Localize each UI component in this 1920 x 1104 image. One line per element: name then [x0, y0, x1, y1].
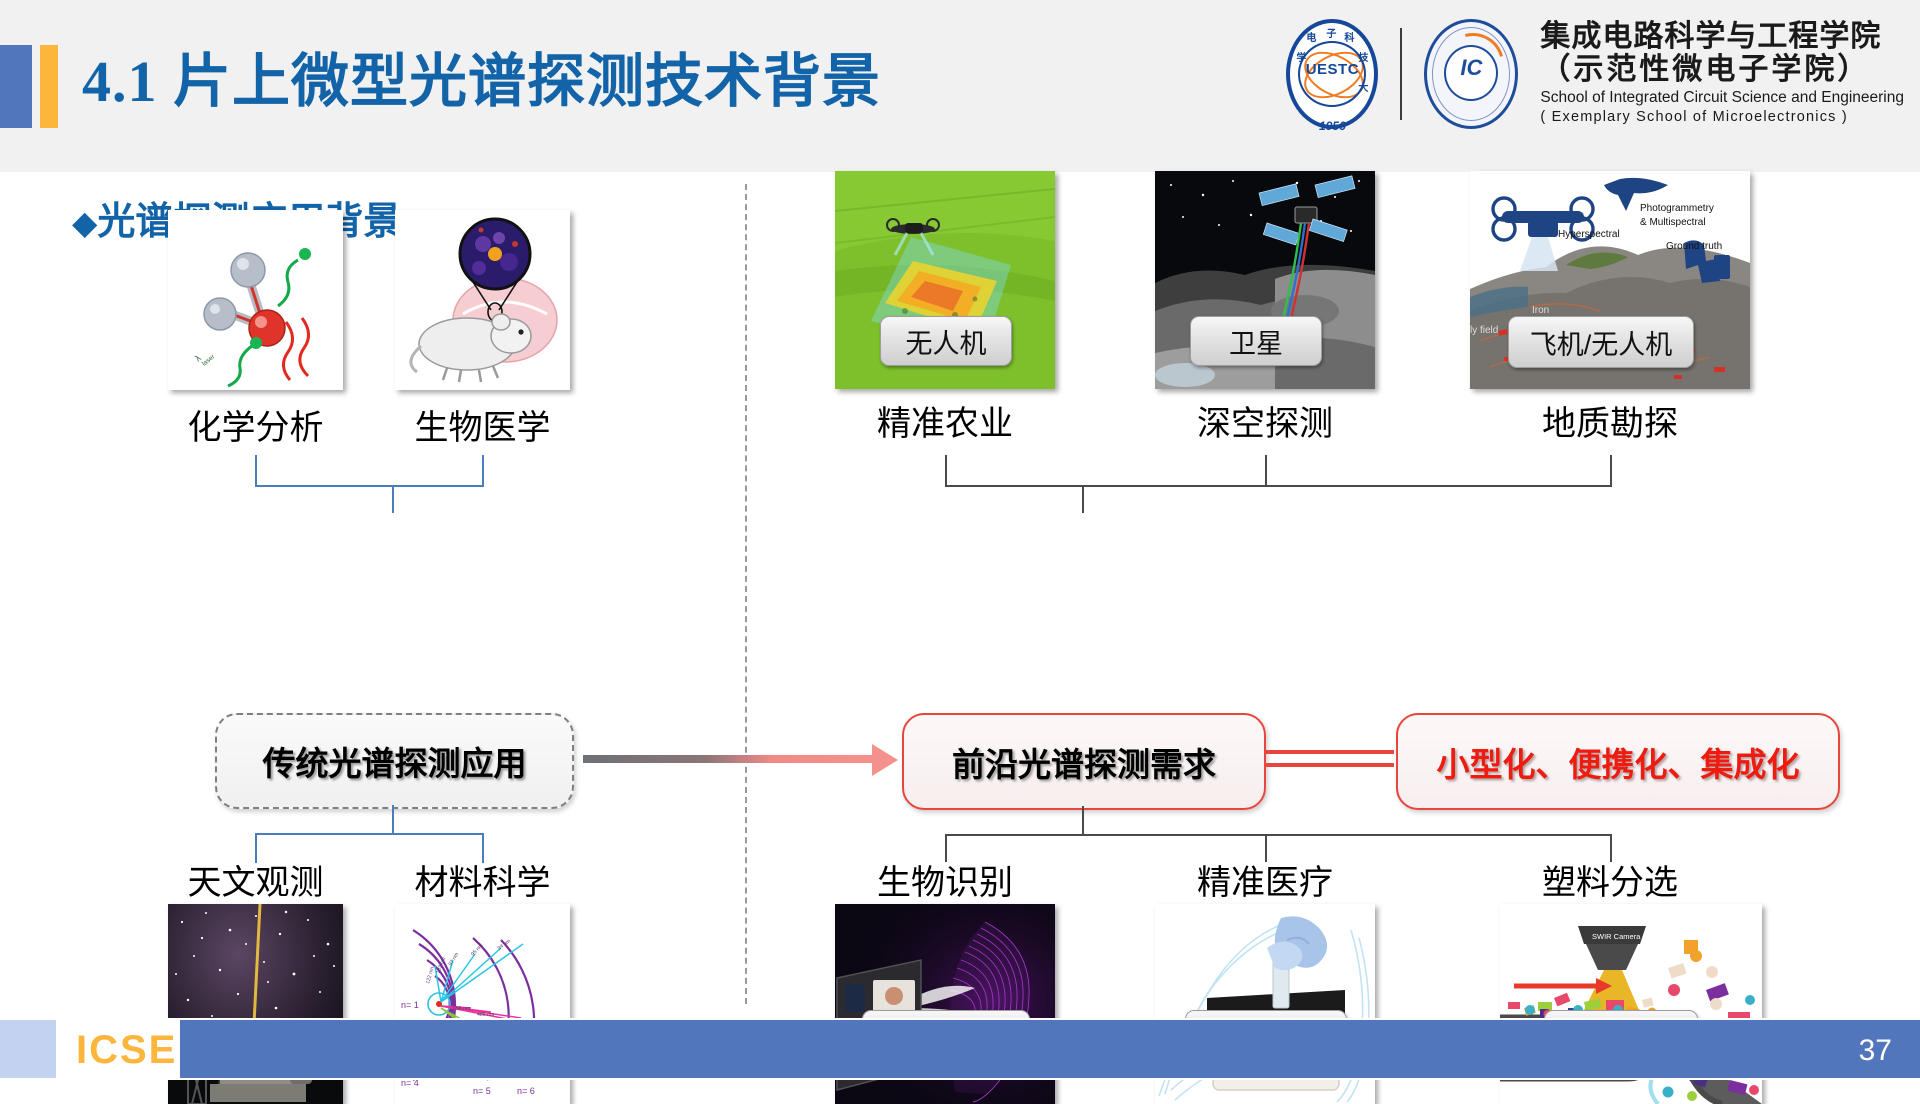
svg-text:SWIR Camera: SWIR Camera	[1592, 932, 1641, 941]
school-name-cn-1: 集成电路科学与工程学院	[1540, 21, 1904, 53]
connector-left-top-bar	[255, 485, 484, 487]
connector-left-bottom-bar	[255, 833, 484, 835]
connector-agri-down	[945, 455, 947, 485]
panel-divider	[745, 184, 747, 1004]
slide-header: 4.1 片上微型光谱探测技术背景 UESTC 电 子 科 技 大 学 1956 …	[0, 0, 1920, 172]
footer-brand: ICSE	[76, 1028, 177, 1073]
svg-text:Hyperspectral: Hyperspectral	[1558, 229, 1620, 240]
svg-text:Iron: Iron	[1532, 305, 1549, 316]
uestc-seal-logo: UESTC 电 子 科 技 大 学 1956	[1278, 15, 1386, 133]
svg-text:ly field: ly field	[1470, 325, 1498, 336]
svg-text:n= 6: n= 6	[517, 1086, 535, 1096]
connector-chem-down	[255, 455, 257, 485]
footer-bar: 37	[180, 1020, 1920, 1078]
connector-right-top-bar	[945, 485, 1612, 487]
connector-right-bottom-stem	[1082, 806, 1084, 834]
seal-char-1: 子	[1326, 25, 1336, 40]
svg-text:n= 1: n= 1	[401, 1000, 419, 1010]
caption-geological-survey: 地质勘探	[1470, 396, 1750, 445]
caption-precision-agriculture: 精准农业	[835, 396, 1055, 445]
seal-char-0: 电	[1306, 29, 1316, 44]
svg-text:n= 5: n= 5	[473, 1086, 491, 1096]
caption-astronomy: 天文观测	[168, 855, 343, 904]
logo-divider	[1400, 28, 1402, 120]
seal-char-4: 大	[1358, 79, 1368, 94]
caption-plastic-sorting: 塑料分选	[1470, 855, 1750, 904]
school-name-cn-2: （示范性微电子学院）	[1540, 54, 1904, 86]
box-frontier-demand[interactable]: 前沿光谱探测需求	[902, 713, 1266, 810]
icse-seal-logo: IC	[1416, 15, 1524, 133]
arrow-traditional-to-frontier	[583, 755, 888, 763]
header-accent-bar-orange	[40, 45, 58, 128]
connector-left-bottom-stem	[392, 805, 394, 833]
school-name-en-2: ( Exemplary School of Microelectronics )	[1540, 108, 1904, 127]
connector-bio-down	[482, 455, 484, 485]
page-title-text: 片上微型光谱探测技术背景	[173, 49, 881, 114]
badge-aircraft-drone[interactable]: 飞机/无人机	[1508, 316, 1694, 368]
badge-drone[interactable]: 无人机	[880, 316, 1012, 366]
box-miniaturization-goal[interactable]: 小型化、便携化、集成化	[1396, 713, 1840, 810]
page-title-number: 4.1	[82, 49, 158, 114]
seal-char-2: 科	[1344, 29, 1354, 44]
school-name-block: 集成电路科学与工程学院 （示范性微电子学院） School of Integra…	[1540, 21, 1904, 127]
caption-precision-medicine: 精准医疗	[1155, 855, 1375, 904]
svg-text:Ground truth: Ground truth	[1666, 241, 1722, 252]
badge-satellite[interactable]: 卫星	[1190, 316, 1322, 366]
page-number: 37	[1859, 1034, 1892, 1068]
caption-deep-space: 深空探测	[1155, 396, 1375, 445]
image-chemical-analysis: λ laser	[168, 210, 343, 390]
svg-text:656 nm: 656 nm	[453, 1006, 470, 1012]
connector-right-bottom-bar	[945, 834, 1612, 836]
page-title: 4.1 片上微型光谱探测技术背景	[82, 34, 881, 118]
caption-chemical-analysis: 化学分析	[168, 400, 343, 449]
connector-space-down	[1265, 455, 1267, 485]
slide-body: ◆光谱探测应用背景 λ laser 化学分析	[0, 172, 1920, 1018]
svg-text:& Multispectral: & Multispectral	[1640, 217, 1706, 228]
school-name-en-1: School of Integrated Circuit Science and…	[1540, 88, 1904, 108]
connector-right-top-stem	[1082, 485, 1084, 513]
seal-char-5: 学	[1296, 49, 1306, 64]
caption-biomedical: 生物医学	[395, 400, 570, 449]
connector-demand-to-goal	[1266, 750, 1394, 767]
slide-footer: ICSE 37	[0, 1018, 1920, 1080]
caption-biometrics: 生物识别	[835, 855, 1055, 904]
header-accent-bar-blue	[0, 45, 32, 128]
arrow-head-icon	[872, 744, 898, 776]
image-biomedical	[395, 210, 570, 390]
caption-material-science: 材料科学	[395, 855, 570, 904]
connector-left-top-stem	[392, 485, 394, 513]
diamond-bullet-icon: ◆	[72, 204, 97, 241]
footer-left-accent	[0, 1020, 56, 1078]
uestc-seal-year: 1956	[1286, 119, 1378, 133]
icse-seal-text: IC	[1444, 55, 1498, 81]
uestc-seal-text: UESTC	[1298, 61, 1366, 78]
connector-geo-down	[1610, 455, 1612, 485]
box-traditional-applications[interactable]: 传统光谱探测应用	[215, 713, 574, 809]
svg-text:Photogrammetry: Photogrammetry	[1640, 203, 1714, 214]
seal-char-3: 技	[1358, 49, 1368, 64]
logo-group: UESTC 电 子 科 技 大 学 1956 IC 集成电路科学与工程学院 （示…	[1278, 12, 1904, 136]
